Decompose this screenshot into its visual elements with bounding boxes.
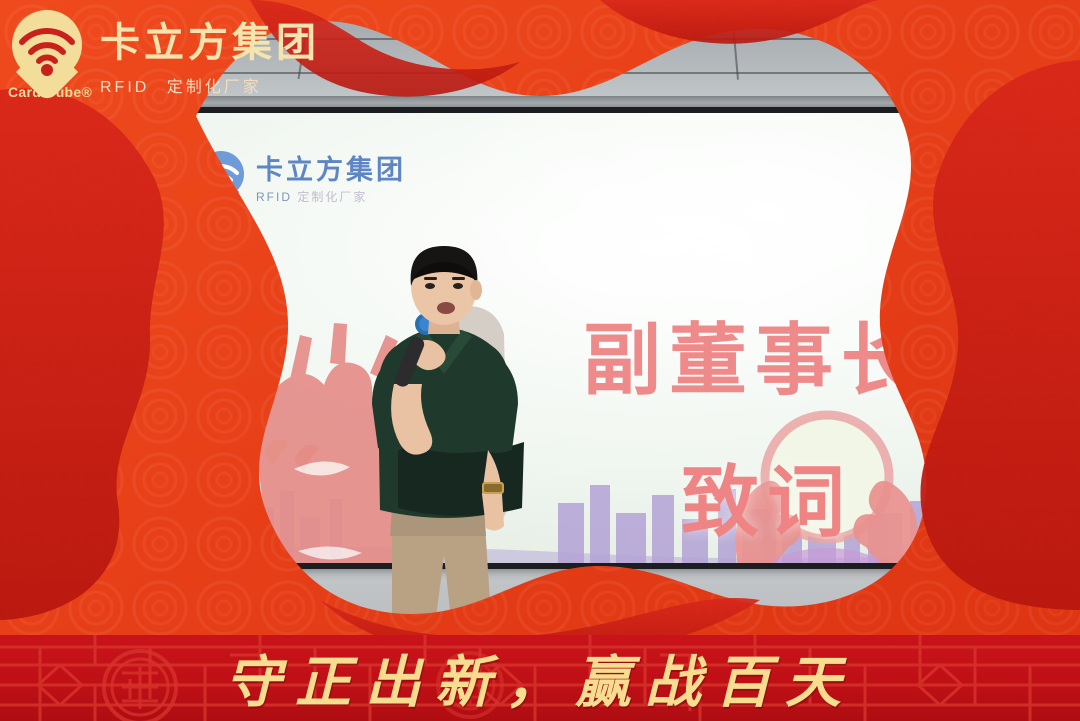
speaker-person (330, 246, 560, 666)
lectern (104, 481, 244, 551)
screen-brand-en: Card Cube® (204, 211, 244, 235)
lectern-stem (128, 540, 174, 635)
watermark-brand-logo: Card Cube® 卡立方集团 RFID 定制化厂家 (8, 10, 320, 106)
screen-brand-logo: Card Cube® 卡立方集团 RFID 定制化厂家 (198, 151, 406, 209)
wifi-pin-icon: Card Cube® (8, 10, 86, 106)
watermark-tagline-en: RFID (100, 79, 149, 96)
bottom-slogan-banner: 守正出新，赢战百天 (0, 635, 1080, 721)
screen-brand-tagline: RFID 定制化厂家 (256, 191, 406, 203)
wifi-pin-icon: Card Cube® (198, 151, 244, 209)
wall-mounted-device-icon (1028, 452, 1050, 500)
watermark-brand-en: Card Cube® (8, 84, 90, 100)
projection-screen-frame: Card Cube® 卡立方集团 RFID 定制化厂家 副董事长 致词 (152, 107, 1008, 569)
event-photo: Card Cube® 卡立方集团 RFID 定制化厂家 副董事长 致词 (0, 0, 1080, 721)
screen-brand-cn: 卡立方集团 (256, 157, 406, 184)
slogan-text: 守正出新，赢战百天 (0, 638, 1080, 719)
screen-title-line1: 副董事长 (583, 321, 927, 399)
photo-scene: Card Cube® 卡立方集团 RFID 定制化厂家 副董事长 致词 (0, 0, 1080, 721)
screen-tagline-en: RFID (256, 190, 292, 204)
projection-screen: Card Cube® 卡立方集团 RFID 定制化厂家 副董事长 致词 (158, 113, 1002, 563)
watermark-brand-cn: 卡立方集团 (100, 23, 320, 63)
screen-title-line2: 致词 (681, 463, 853, 541)
watermark-tagline-cn: 定制化厂家 (167, 79, 262, 96)
screen-tagline-cn: 定制化厂家 (297, 190, 367, 204)
watermark-tagline: RFID 定制化厂家 (100, 73, 320, 97)
